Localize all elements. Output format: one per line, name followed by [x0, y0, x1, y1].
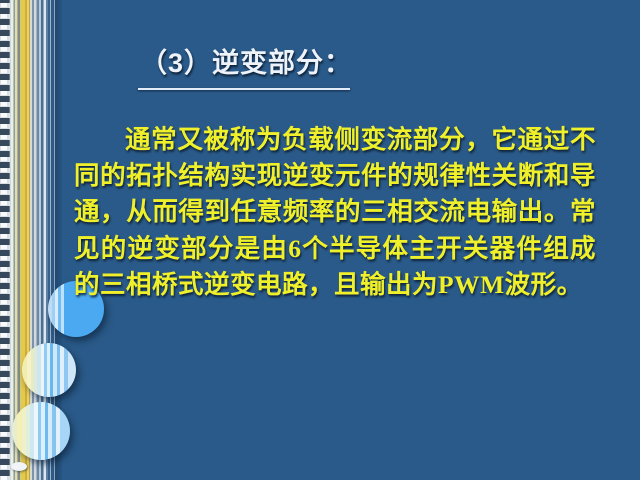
film-sprocket-holes	[1, 0, 7, 480]
corner-oval-accent	[11, 462, 27, 471]
title-underline	[138, 88, 350, 90]
slide-content: （3）逆变部分： 通常又被称为负载侧变流部分，它通过不同的拓扑结构实现逆变元件的…	[62, 0, 640, 480]
slide-body-block: 通常又被称为负载侧变流部分，它通过不同的拓扑结构实现逆变元件的规律性关断和导通，…	[74, 122, 596, 303]
slide-title-block: （3）逆变部分：	[134, 48, 564, 84]
slide-title: （3）逆变部分：	[134, 48, 358, 84]
slide-body-text: 通常又被称为负载侧变流部分，它通过不同的拓扑结构实现逆变元件的规律性关断和导通，…	[74, 122, 596, 303]
film-strip-icon	[0, 0, 10, 480]
presentation-slide: （3）逆变部分： 通常又被称为负载侧变流部分，它通过不同的拓扑结构实现逆变元件的…	[0, 0, 640, 480]
